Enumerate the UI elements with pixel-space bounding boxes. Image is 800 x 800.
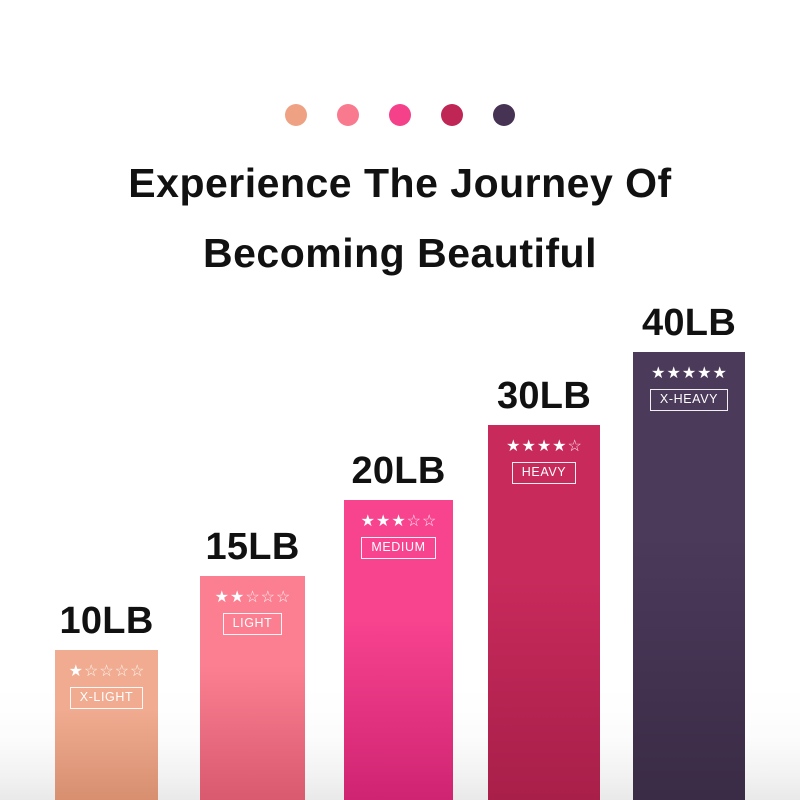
star-empty-icon: ☆ xyxy=(407,514,421,530)
bar-badge-group: ★☆☆☆☆X-LIGHT xyxy=(55,664,158,709)
star-filled-icon: ★ xyxy=(713,366,727,382)
star-filled-icon: ★ xyxy=(391,514,405,530)
bar-light[interactable]: 15LB★★☆☆☆LIGHT xyxy=(200,576,305,800)
star-filled-icon: ★ xyxy=(230,590,244,606)
tier-badge: X-LIGHT xyxy=(70,687,144,709)
bar-badge-group: ★★☆☆☆LIGHT xyxy=(200,590,305,635)
star-empty-icon: ☆ xyxy=(568,439,582,455)
star-empty-icon: ☆ xyxy=(84,664,98,680)
bar-x-light[interactable]: 10LB★☆☆☆☆X-LIGHT xyxy=(55,650,158,800)
star-empty-icon: ☆ xyxy=(130,664,144,680)
star-filled-icon: ★ xyxy=(552,439,566,455)
star-empty-icon: ☆ xyxy=(422,514,436,530)
bar-badge-group: ★★★★☆HEAVY xyxy=(488,439,600,484)
rating-stars: ★★☆☆☆ xyxy=(215,590,291,606)
tier-badge: MEDIUM xyxy=(361,537,435,559)
bar-medium[interactable]: 20LB★★★☆☆MEDIUM xyxy=(344,500,453,800)
star-empty-icon: ☆ xyxy=(245,590,259,606)
bar-weight-label: 30LB xyxy=(497,375,591,418)
bar-fill xyxy=(633,352,745,800)
tier-badge: HEAVY xyxy=(512,462,576,484)
star-empty-icon: ☆ xyxy=(276,590,290,606)
star-filled-icon: ★ xyxy=(666,366,680,382)
bar-x-heavy[interactable]: 40LB★★★★★X-HEAVY xyxy=(633,352,745,800)
star-empty-icon: ☆ xyxy=(99,664,113,680)
tier-badge: X-HEAVY xyxy=(650,389,728,411)
star-filled-icon: ★ xyxy=(376,514,390,530)
bar-weight-label: 15LB xyxy=(205,526,299,569)
bar-weight-label: 10LB xyxy=(59,600,153,643)
star-filled-icon: ★ xyxy=(361,514,375,530)
star-filled-icon: ★ xyxy=(69,664,83,680)
star-filled-icon: ★ xyxy=(506,439,520,455)
bar-badge-group: ★★★☆☆MEDIUM xyxy=(344,514,453,559)
rating-stars: ★★★★★ xyxy=(651,366,727,382)
star-filled-icon: ★ xyxy=(521,439,535,455)
resistance-bar-chart: 10LB★☆☆☆☆X-LIGHT15LB★★☆☆☆LIGHT20LB★★★☆☆M… xyxy=(0,0,800,800)
star-filled-icon: ★ xyxy=(682,366,696,382)
tier-badge: LIGHT xyxy=(223,613,283,635)
rating-stars: ★☆☆☆☆ xyxy=(69,664,145,680)
rating-stars: ★★★★☆ xyxy=(506,439,582,455)
star-filled-icon: ★ xyxy=(215,590,229,606)
star-empty-icon: ☆ xyxy=(261,590,275,606)
bar-badge-group: ★★★★★X-HEAVY xyxy=(633,366,745,411)
bar-heavy[interactable]: 30LB★★★★☆HEAVY xyxy=(488,425,600,800)
rating-stars: ★★★☆☆ xyxy=(361,514,437,530)
star-filled-icon: ★ xyxy=(697,366,711,382)
star-filled-icon: ★ xyxy=(537,439,551,455)
bar-weight-label: 40LB xyxy=(642,302,736,345)
poster-canvas: Experience The Journey Of Becoming Beaut… xyxy=(0,0,800,800)
star-empty-icon: ☆ xyxy=(115,664,129,680)
bar-weight-label: 20LB xyxy=(351,450,445,493)
star-filled-icon: ★ xyxy=(651,366,665,382)
